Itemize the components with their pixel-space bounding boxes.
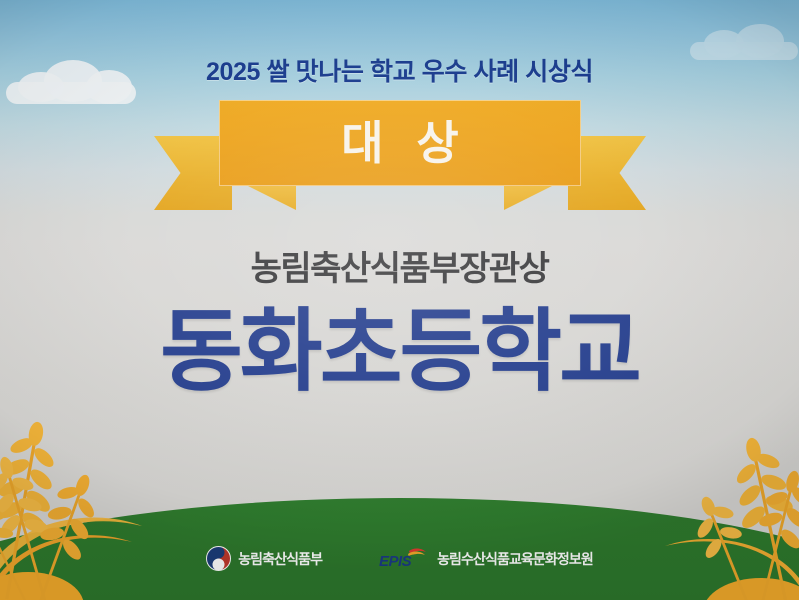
ministry-logo-unit: 농림축산식품부 xyxy=(206,546,322,571)
epis-logo-icon: EPIS xyxy=(378,547,430,571)
school-name: 동화초등학교 xyxy=(0,302,799,403)
svg-text:EPIS: EPIS xyxy=(379,553,412,570)
award-title: 농림축산식품부장관상 xyxy=(0,241,799,290)
ministry-logo-label: 농림축산식품부 xyxy=(238,549,322,569)
ribbon-banner: 대 상 xyxy=(155,100,645,218)
footer-logo-row: 농림축산식품부 EPIS 농림수산식품교육문화정보원 xyxy=(0,546,799,571)
taegeuk-government-emblem-icon xyxy=(206,546,231,571)
ribbon-body: 대 상 xyxy=(219,100,581,186)
page-title: 2025 쌀 맛나는 학교 우수 사례 시상식 xyxy=(0,52,799,88)
ribbon-label: 대 상 xyxy=(331,120,468,166)
epis-logo-unit: EPIS 농림수산식품교육문화정보원 xyxy=(378,547,593,571)
award-poster: 2025 쌀 맛나는 학교 우수 사례 시상식 대 상 농림축산식품부장관상 동… xyxy=(0,0,799,600)
epis-logo-label: 농림수산식품교육문화정보원 xyxy=(437,549,593,569)
